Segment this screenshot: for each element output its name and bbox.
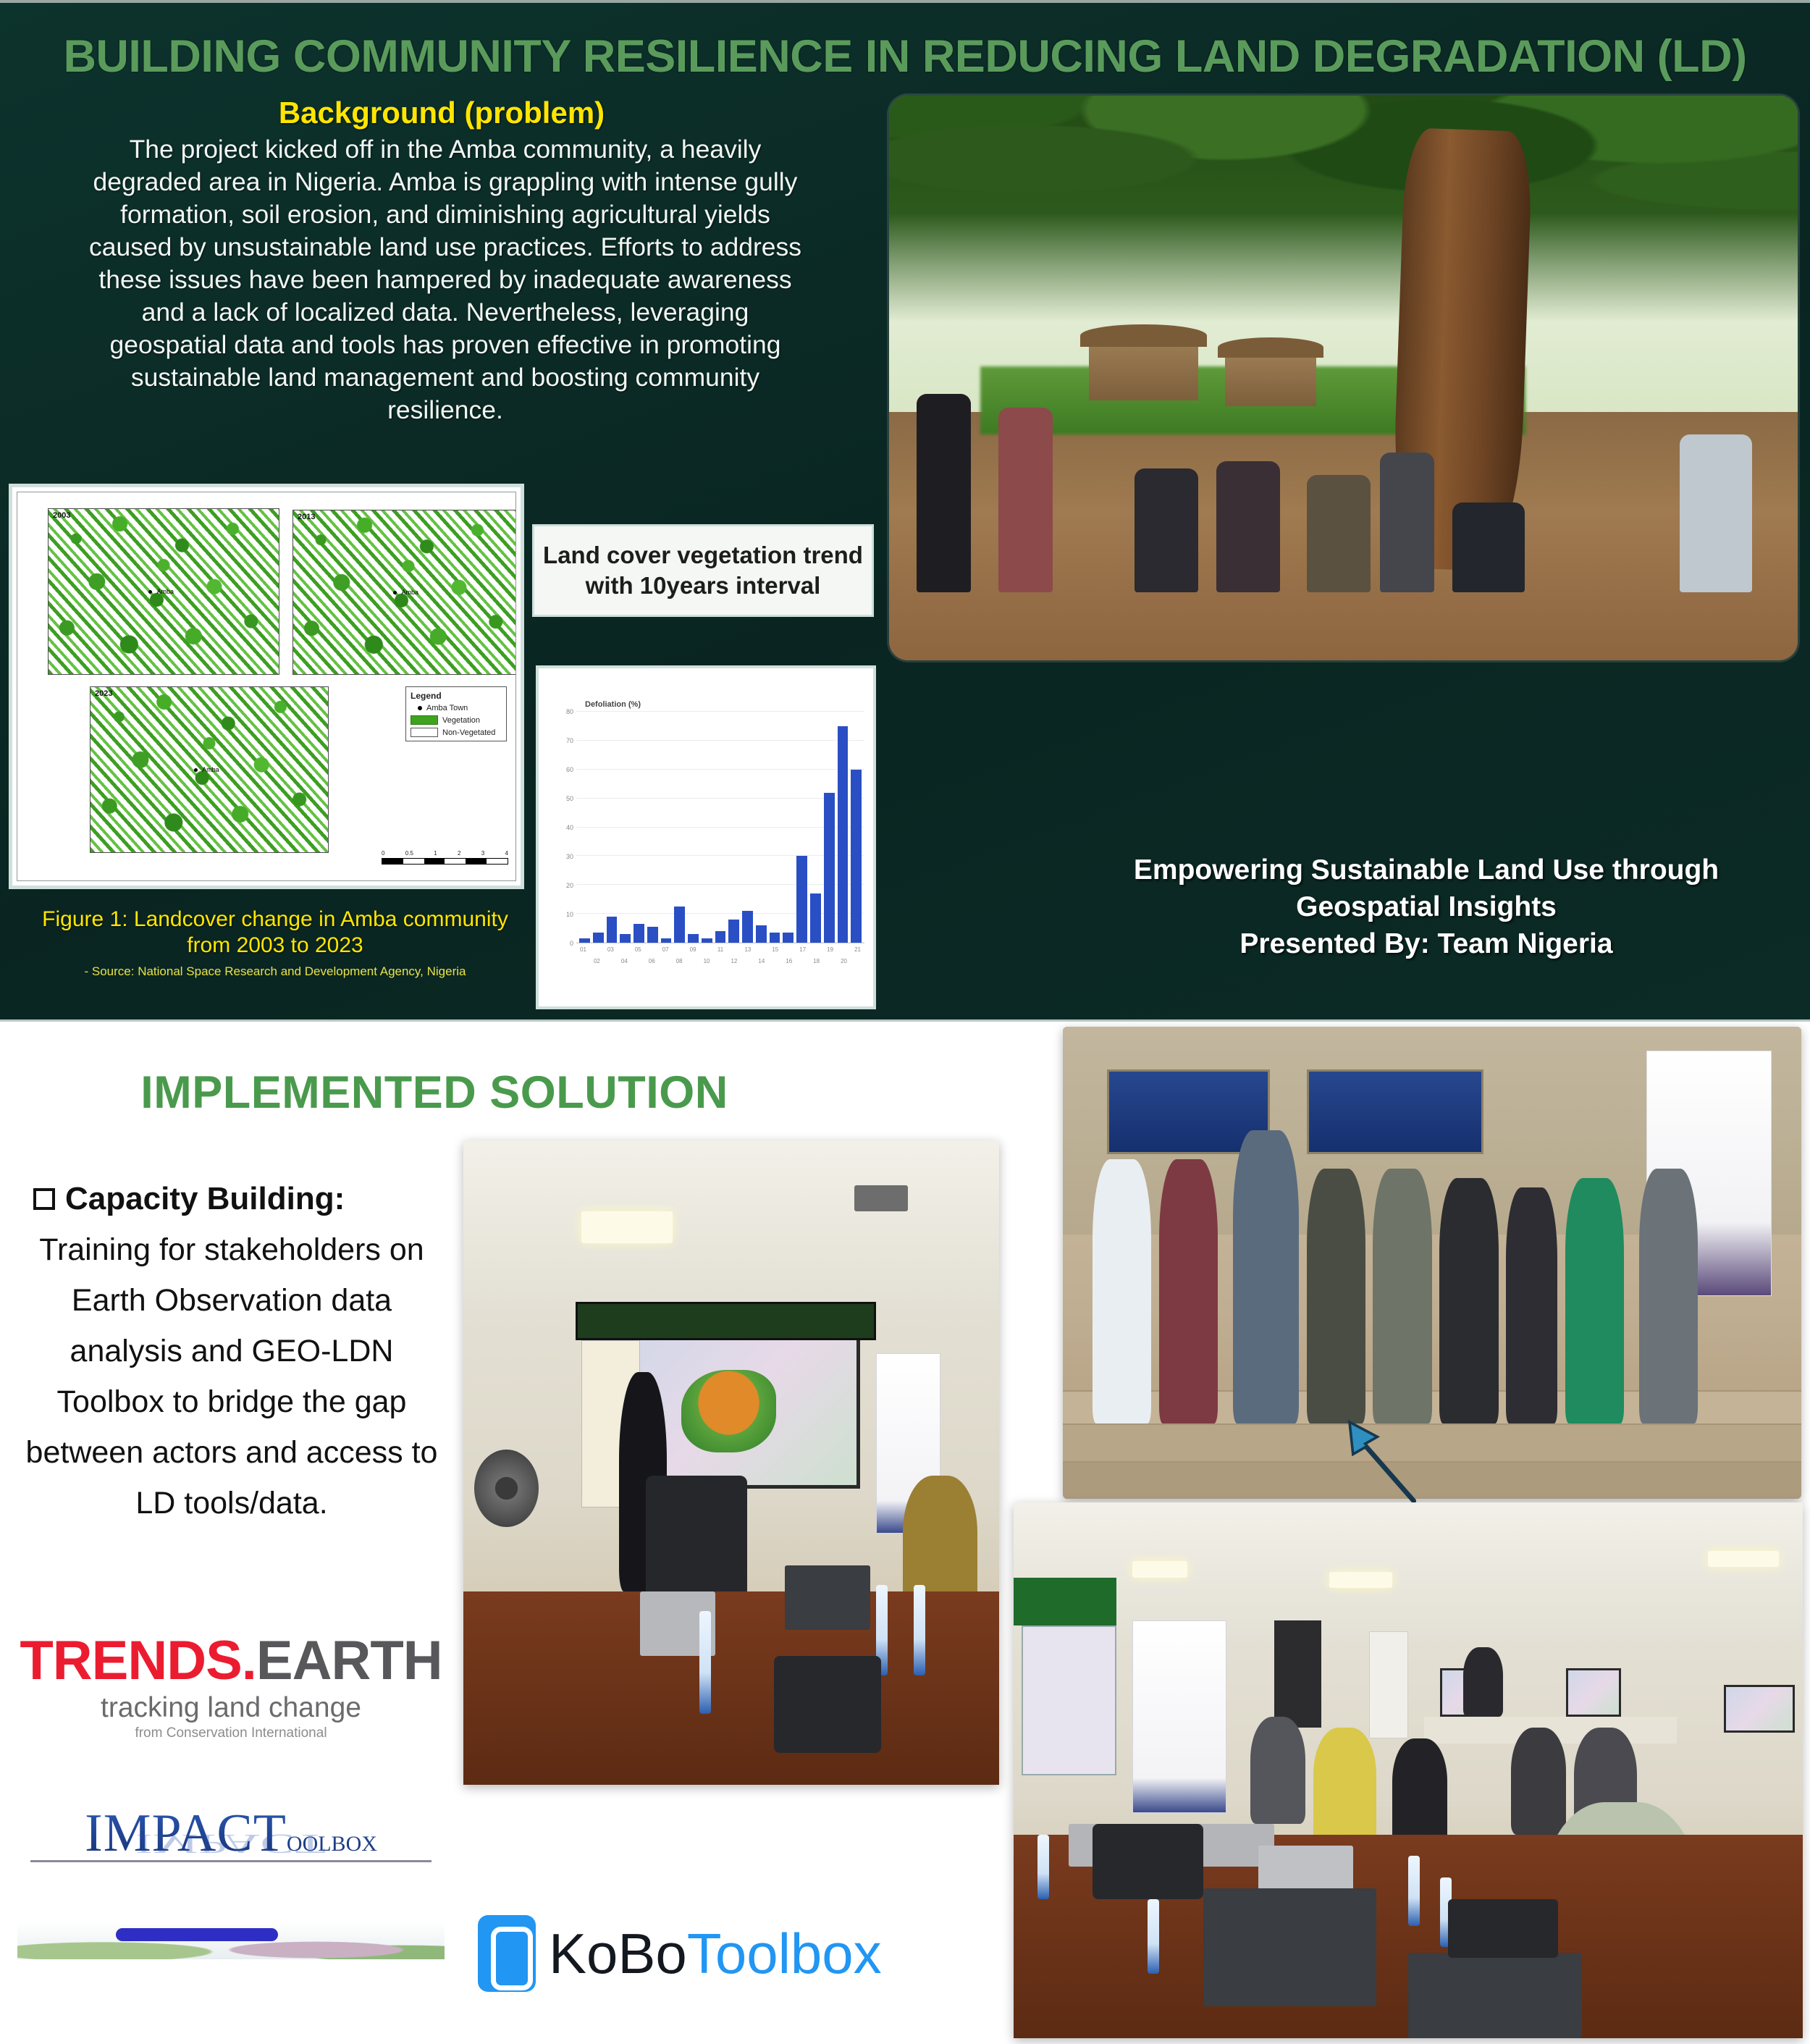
top-dark-panel: BUILDING COMMUNITY RESILIENCE IN REDUCIN… <box>0 0 1810 1019</box>
chart-bar <box>620 934 631 943</box>
group-photo <box>1063 1027 1801 1499</box>
community-meeting-photo <box>889 96 1798 660</box>
capacity-building-heading: Capacity Building: <box>33 1181 449 1217</box>
chart-bar <box>674 907 685 943</box>
chart-bar <box>824 793 835 943</box>
impact-toolbox-logo: IMPACTOOLBOX IMPACT <box>10 1803 452 1959</box>
section-heading-implemented-solution: IMPLEMENTED SOLUTION <box>94 1067 775 1119</box>
capacity-building-block: Capacity Building: Training for stakehol… <box>14 1181 449 1528</box>
trends-earth-logo: TRENDS.EARTH tracking land change from C… <box>10 1631 452 1741</box>
impact-reflection: IMPACT <box>10 1828 452 1859</box>
legend-label: Non-Vegetated <box>442 728 495 737</box>
legend-row-amba-town: Amba Town <box>411 704 502 712</box>
vegetation-trend-chart: Defoliation (%) 01020304050607080 010203… <box>536 665 876 1009</box>
scalebar-bar <box>382 858 508 865</box>
photo-person <box>1506 1187 1557 1423</box>
trend-label-line2: with 10years interval <box>543 571 863 601</box>
checkbox-bullet-icon <box>33 1188 55 1210</box>
scalebar-tick: 1 <box>434 850 437 857</box>
map-panel-2003: 2003 Amba <box>48 508 279 675</box>
photo-air-conditioner <box>1369 1631 1409 1738</box>
photo-person <box>1307 1169 1366 1423</box>
photo-bag <box>1448 1899 1559 1958</box>
photo-person <box>1159 1159 1218 1423</box>
photo-lab-room <box>1014 1502 1803 2038</box>
photo-green-sign <box>1014 1578 1116 1626</box>
photo-window <box>1307 1069 1484 1154</box>
photo-ceiling-vent <box>854 1185 908 1211</box>
arrow-annotation-icon <box>1332 1418 1419 1505</box>
chart-x-axis: 0102030405060708091011121314151617181920… <box>576 943 864 977</box>
non-vegetated-swatch-icon <box>411 728 438 737</box>
photo-monitor <box>1724 1685 1795 1733</box>
chart-bar <box>607 917 618 943</box>
photo-stair <box>1063 1423 1801 1461</box>
capacity-building-text: Training for stakeholders on Earth Obser… <box>14 1224 449 1528</box>
photo-bag <box>1093 1824 1203 1899</box>
map-inner: 2003 Amba 2013 Amba 2023 Amba Legend Amb… <box>17 492 516 881</box>
computer-lab-photo <box>1014 1502 1803 2038</box>
capacity-building-label: Capacity Building: <box>65 1181 345 1217</box>
photo-water-bottle <box>914 1585 925 1675</box>
chart-y-tick-label: 10 <box>566 911 573 918</box>
legend-label: Amba Town <box>426 704 468 712</box>
chart-x-tick-label: 02 <box>594 958 600 964</box>
chart-x-tick-label: 10 <box>704 958 710 964</box>
poster-root: BUILDING COMMUNITY RESILIENCE IN REDUCIN… <box>0 0 1810 2044</box>
chart-bar <box>647 927 658 943</box>
map-year-label: 2023 <box>95 689 112 698</box>
photo-person <box>1135 468 1198 593</box>
training-room-photo <box>463 1140 999 1785</box>
photo-participant <box>1511 1728 1566 1835</box>
tagline-line2: Geospatial Insights <box>1064 888 1788 925</box>
chart-bar <box>851 770 862 943</box>
background-heading: Background (problem) <box>51 96 833 130</box>
chart-y-tick-label: 60 <box>566 766 573 773</box>
chart-bar <box>715 931 726 943</box>
photo-person <box>1380 453 1434 592</box>
map-year-label: 2003 <box>53 511 70 520</box>
trends-word: TRENDS <box>20 1630 241 1691</box>
photo-participant <box>1313 1728 1376 1846</box>
chart-x-tick-label: 15 <box>772 946 778 953</box>
chart-bar <box>783 933 794 943</box>
photo-ceiling-light <box>1708 1551 1779 1567</box>
chart-x-tick-label: 21 <box>854 946 861 953</box>
point-marker-icon <box>418 706 422 710</box>
map-scalebar: 0 0.5 1 2 3 4 <box>382 850 508 865</box>
tagline-block: Empowering Sustainable Land Use through … <box>1064 851 1788 962</box>
photo-person <box>1565 1178 1625 1423</box>
kobotoolbox-logo: KoBoToolbox <box>478 1915 985 1992</box>
chart-bar <box>702 938 712 943</box>
chart-x-tick-label: 09 <box>690 946 696 953</box>
photo-water-bottle <box>1037 1835 1049 1899</box>
chart-x-tick-label: 20 <box>841 958 847 964</box>
chart-x-tick-label: 13 <box>744 946 751 953</box>
chart-bar <box>579 938 590 943</box>
legend-label: Vegetation <box>442 716 480 725</box>
chart-bar <box>728 920 739 943</box>
scalebar-tick: 2 <box>458 850 460 857</box>
toolbox-word: Toolbox <box>687 1922 882 1985</box>
photo-steps-scene <box>1063 1027 1801 1499</box>
photo-stair <box>1063 1461 1801 1499</box>
chart-y-tick-label: 30 <box>566 853 573 860</box>
photo-nigeria-map <box>681 1370 776 1452</box>
photo-laptop <box>1203 1888 1377 2006</box>
scalebar-tick: 0.5 <box>405 850 413 857</box>
scalebar-ticks: 0 0.5 1 2 3 4 <box>382 850 508 857</box>
background-body-text: The project kicked off in the Amba commu… <box>80 133 811 426</box>
legend-row-non-vegetated: Non-Vegetated <box>411 728 502 737</box>
photo-person <box>998 408 1053 593</box>
chart-x-tick-label: 18 <box>813 958 820 964</box>
photo-rollup-banner <box>1132 1620 1227 1813</box>
chart-y-tick-label: 70 <box>566 737 573 744</box>
landcover-map-figure: 2003 Amba 2013 Amba 2023 Amba Legend Amb… <box>9 484 524 889</box>
map-panel-2013: 2013 Amba <box>292 510 516 675</box>
map-panel-2023: 2023 Amba <box>90 686 329 853</box>
chart-y-tick-label: 80 <box>566 708 573 715</box>
photo-person <box>1216 461 1280 592</box>
photo-water-bottle <box>1148 1899 1159 1974</box>
photo-person <box>1439 1178 1499 1423</box>
chart-x-tick-label: 07 <box>662 946 669 953</box>
chart-bars <box>576 712 864 943</box>
photo-person <box>1307 475 1371 592</box>
legend-title: Legend <box>411 691 502 701</box>
photo-person <box>1639 1169 1699 1423</box>
chart-y-axis: 01020304050607080 <box>547 712 576 943</box>
photo-person <box>1452 502 1525 593</box>
photo-room <box>463 1140 999 1785</box>
photo-monitor <box>1566 1668 1621 1717</box>
chart-x-tick-label: 08 <box>676 958 683 964</box>
trends-earth-tagline: tracking land change <box>10 1692 452 1724</box>
chart-x-tick-label: 04 <box>621 958 628 964</box>
chart-title: Defoliation (%) <box>585 700 864 709</box>
chart-y-tick-label: 40 <box>566 824 573 831</box>
chart-bar <box>770 933 780 943</box>
scalebar-tick: 4 <box>505 850 508 857</box>
chart-bar <box>810 893 821 943</box>
tagline-line1: Empowering Sustainable Land Use through <box>1064 851 1788 888</box>
trend-label-line1: Land cover vegetation trend <box>543 540 863 571</box>
photo-water-bottle <box>1408 1856 1420 1925</box>
chart-y-tick-label: 50 <box>566 795 573 802</box>
trend-label-box: Land cover vegetation trend with 10years… <box>532 524 874 617</box>
photo-person <box>1373 1169 1432 1423</box>
map-town-label: Amba <box>156 588 174 595</box>
chart-x-tick-label: 17 <box>799 946 806 953</box>
vegetation-swatch-icon <box>411 715 438 725</box>
chart-bar <box>796 856 807 943</box>
chart-x-tick-label: 01 <box>580 946 586 953</box>
photo-person <box>1093 1159 1152 1423</box>
photo-person <box>1233 1130 1300 1423</box>
photo-water-bottle <box>699 1611 711 1714</box>
chart-bar <box>756 925 767 943</box>
scalebar-tick: 3 <box>481 850 484 857</box>
photo-laptop <box>1408 1953 1582 2038</box>
photo-ceiling <box>463 1140 999 1308</box>
tagline-line3: Presented By: Team Nigeria <box>1064 925 1788 962</box>
chart-bar <box>838 726 849 943</box>
chart-x-tick-label: 06 <box>649 958 655 964</box>
chart-bar <box>688 934 699 943</box>
photo-participant <box>1250 1717 1305 1824</box>
photo-tree-canopy <box>889 96 1798 321</box>
photo-participant <box>1392 1738 1447 1846</box>
photo-laptop <box>1258 1846 1353 1894</box>
impact-landscape-graphic <box>17 1922 445 1959</box>
chart-x-tick-label: 03 <box>607 946 614 953</box>
chart-plot <box>576 712 864 943</box>
chart-x-tick-label: 16 <box>786 958 792 964</box>
figure-source: - Source: National Space Research and De… <box>29 964 521 979</box>
map-town-label: Amba <box>202 766 219 773</box>
kobotoolbox-mark-icon <box>478 1915 536 1992</box>
page-title: BUILDING COMMUNITY RESILIENCE IN REDUCIN… <box>0 30 1810 83</box>
kobotoolbox-wordmark: KoBoToolbox <box>549 1925 882 1982</box>
trends-earth-attribution: from Conservation International <box>10 1725 452 1741</box>
photo-door <box>1274 1620 1321 1728</box>
photo-standing-person <box>1463 1647 1503 1717</box>
photo-wall-poster <box>1022 1625 1116 1775</box>
chart-x-tick-label: 11 <box>717 946 723 953</box>
photo-bag <box>774 1656 881 1753</box>
photo-standing-fan <box>474 1450 539 1527</box>
scalebar-tick: 0 <box>382 850 384 857</box>
chart-x-tick-label: 05 <box>635 946 641 953</box>
map-year-label: 2013 <box>298 513 315 521</box>
photo-ceiling-light <box>1329 1572 1392 1588</box>
map-legend: Legend Amba Town Vegetation Non-Vegetate… <box>405 686 507 741</box>
photo-ceiling-light <box>581 1211 673 1244</box>
chart-x-tick-label: 14 <box>758 958 765 964</box>
trends-earth-wordmark: TRENDS.EARTH <box>10 1631 452 1691</box>
chart-bar <box>661 938 672 943</box>
map-town-label: Amba <box>401 589 418 596</box>
chart-x-tick-label: 19 <box>827 946 833 953</box>
chart-bar <box>593 933 604 943</box>
photo-laptop <box>785 1565 870 1630</box>
legend-row-vegetation: Vegetation <box>411 715 502 725</box>
photo-person <box>917 394 971 593</box>
chart-y-tick-label: 0 <box>570 940 573 947</box>
figure-caption: Figure 1: Landcover change in Amba commu… <box>29 907 521 959</box>
chart-plot-area: 01020304050607080 <box>547 712 864 943</box>
photo-person <box>1680 434 1752 592</box>
kobo-word: KoBo <box>549 1922 687 1985</box>
chart-bar <box>742 911 753 943</box>
trends-separator-icon: . <box>242 1630 256 1691</box>
earth-word: EARTH <box>256 1630 442 1691</box>
impact-blue-stroke-icon <box>116 1928 278 1941</box>
photo-ceiling-light <box>1132 1561 1187 1577</box>
photo-people-group <box>889 366 1798 592</box>
chart-x-tick-label: 12 <box>731 958 737 964</box>
chart-bar <box>633 924 644 943</box>
chart-y-tick-label: 20 <box>566 882 573 889</box>
photo-wall-banner-strip <box>576 1302 875 1340</box>
